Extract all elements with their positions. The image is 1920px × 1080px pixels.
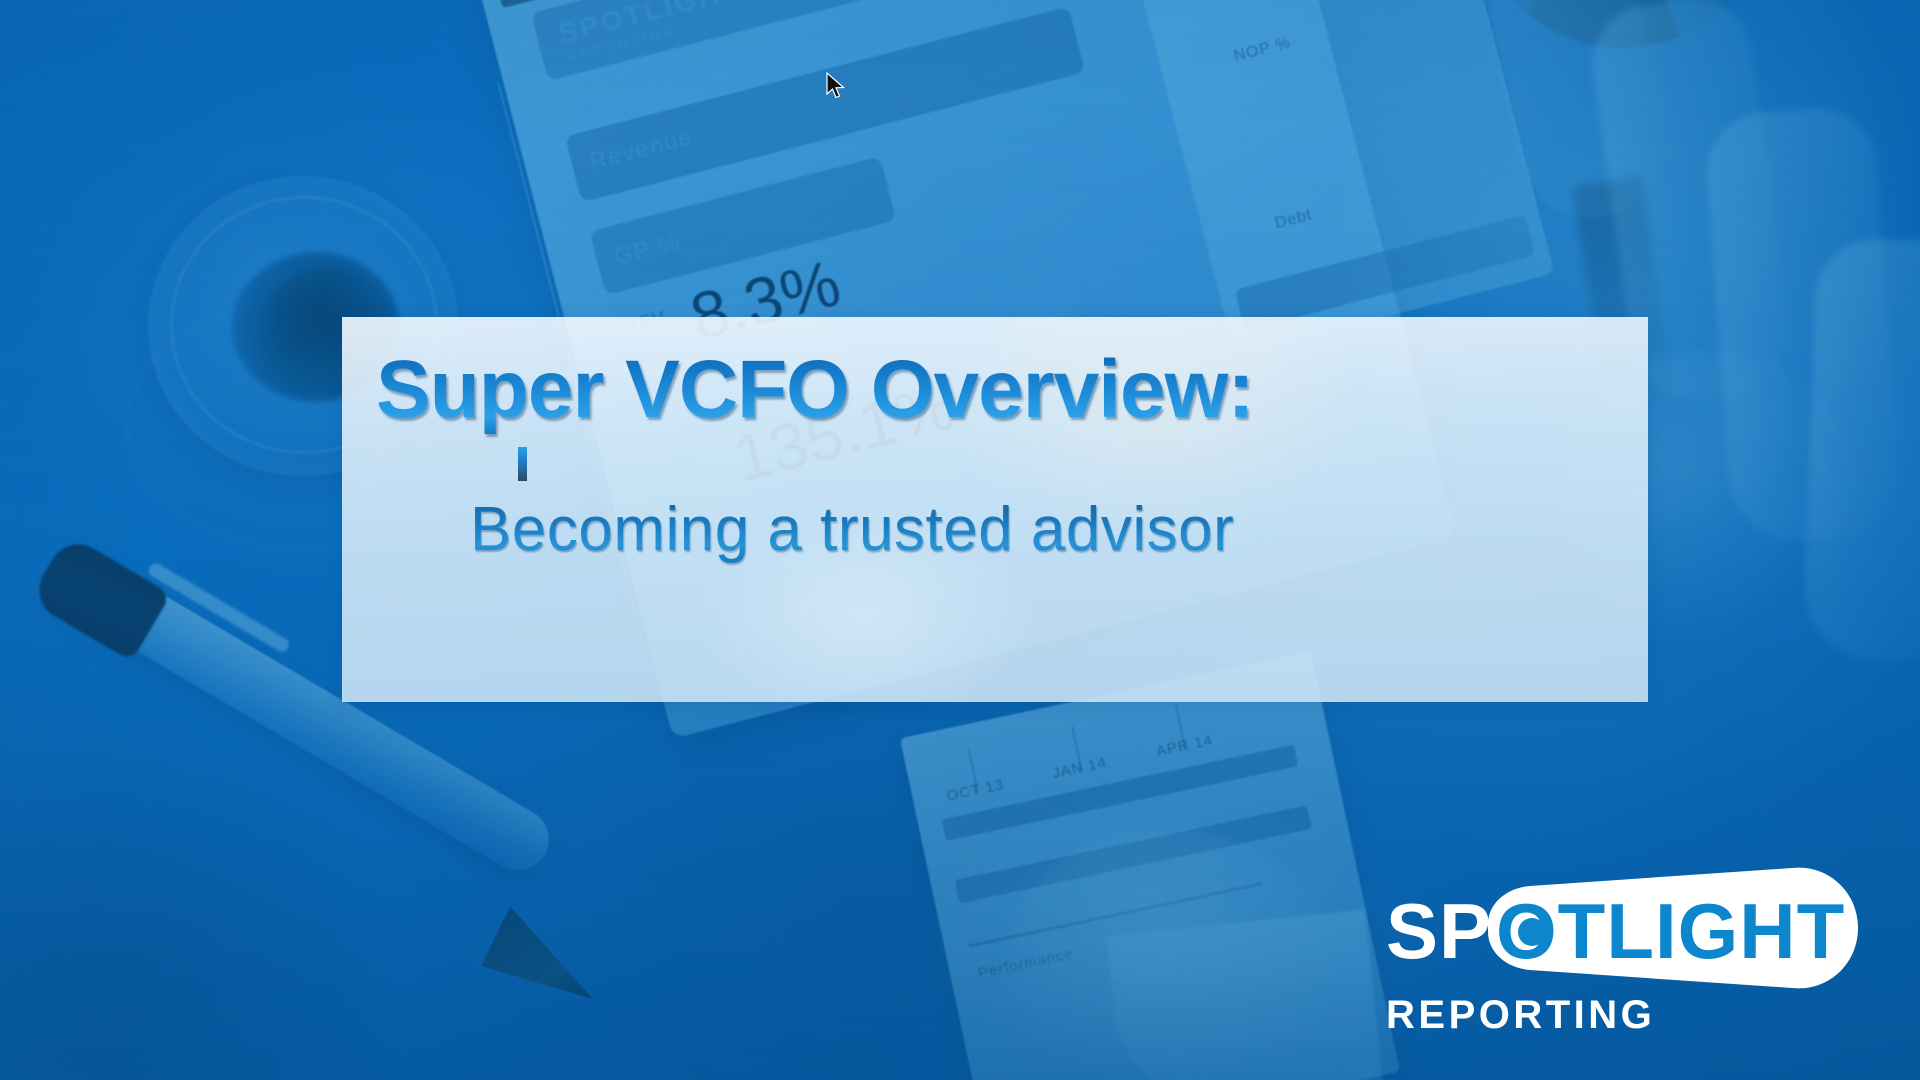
page-title[interactable]: Super VCFO Overview: (376, 343, 1616, 437)
spotlight-lamp-dot (1518, 918, 1546, 946)
presentation-slide: iPad SPOTLIGHT REPORTING Revenue GP % RE… (0, 0, 1920, 1080)
spotlight-reporting-logo: SP OTLIGHT REPORTING (1380, 866, 1880, 1046)
arrow-pointer-icon (827, 73, 844, 98)
logo-wordmark: OTLIGHT (1496, 887, 1845, 975)
text-caret (518, 447, 527, 481)
mouse-cursor (826, 72, 848, 102)
page-subtitle[interactable]: Becoming a trusted advisor (470, 494, 1570, 565)
logo-wordmark-prefix: SP (1386, 887, 1492, 975)
logo-tagline: REPORTING (1386, 993, 1655, 1037)
title-panel: Super VCFO Overview: Becoming a trusted … (342, 317, 1648, 702)
